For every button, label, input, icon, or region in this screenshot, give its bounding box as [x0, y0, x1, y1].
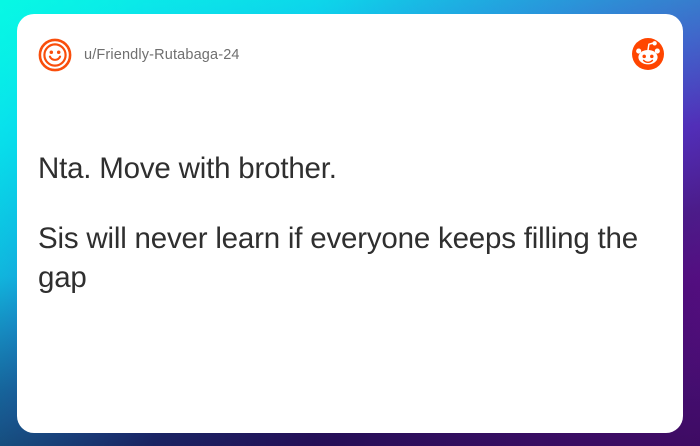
- comment-header: u/Friendly-Rutabaga-24: [38, 38, 240, 72]
- comment-paragraph-1: Nta. Move with brother.: [38, 150, 648, 189]
- smiley-face-avatar-icon[interactable]: [38, 38, 72, 72]
- comment-card: u/Friendly-Rutabaga-24 Nta. Move with br…: [17, 14, 683, 433]
- username-label[interactable]: u/Friendly-Rutabaga-24: [84, 48, 240, 63]
- comment-body: Nta. Move with brother. Sis will never l…: [38, 150, 648, 298]
- comment-paragraph-2: Sis will never learn if everyone keeps f…: [38, 220, 648, 298]
- screenshot-stage: u/Friendly-Rutabaga-24 Nta. Move with br…: [0, 0, 700, 446]
